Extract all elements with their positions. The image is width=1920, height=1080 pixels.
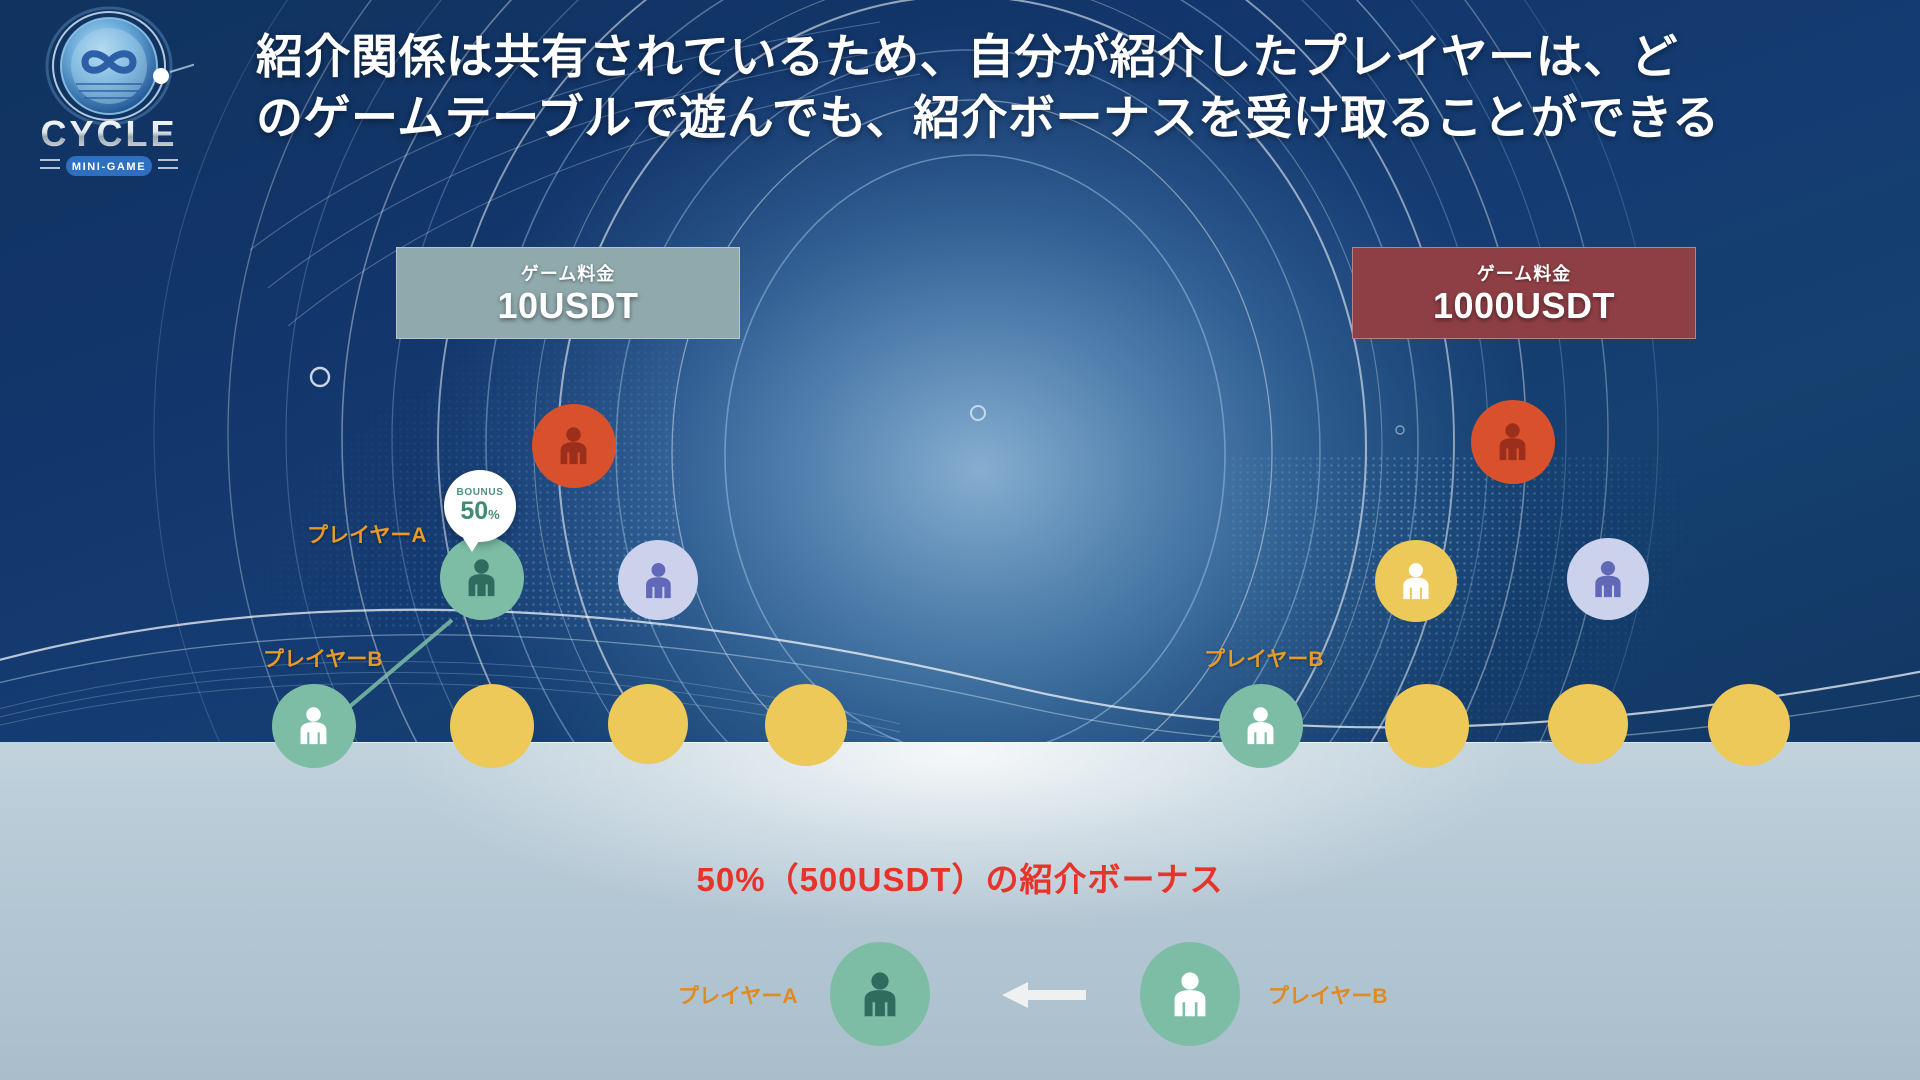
title-line-1: 紹介関係は共有されているため、自分が紹介したプレイヤーは、ど: [256, 26, 1816, 87]
avatar-lavender-left[interactable]: [618, 540, 698, 620]
game-fee-badge-right: ゲーム料金 1000USDT: [1352, 247, 1696, 339]
bonus-bubble: BOUNUS 50%: [444, 470, 516, 542]
avatar-yellow-empty-left-2[interactable]: [608, 684, 688, 764]
game-fee-amount: 1000USDT: [1352, 286, 1696, 326]
avatar-bottom-player-a[interactable]: [830, 942, 930, 1046]
person-icon: [1162, 965, 1218, 1023]
avatar-green-player-b-left[interactable]: [272, 684, 356, 768]
label-bottom-player-a: プレイヤーA: [678, 980, 798, 1010]
avatar-orange-top-left[interactable]: [532, 404, 616, 488]
cycle-logo: CYCLE MINI-GAME: [24, 6, 194, 181]
slide-canvas: CYCLE MINI-GAME 紹介関係は共有されているため、自分が紹介したプレ…: [0, 0, 1920, 1080]
game-fee-badge-left: ゲーム料金 10USDT: [396, 247, 740, 339]
avatar-yellow-empty-left-3[interactable]: [765, 684, 847, 766]
avatar-yellow-empty-right-1[interactable]: [1385, 684, 1469, 768]
avatar-yellow-empty-right-3[interactable]: [1708, 684, 1790, 766]
label-player-a-left: プレイヤーA: [307, 519, 427, 549]
person-icon: [852, 965, 908, 1023]
avatar-bottom-player-b[interactable]: [1140, 942, 1240, 1046]
person-icon: [1393, 558, 1439, 604]
avatar-yellow-person-right[interactable]: [1375, 540, 1457, 622]
person-icon: [458, 554, 505, 601]
logo-wordmark: CYCLE: [40, 113, 177, 154]
avatar-green-player-a-left[interactable]: [440, 536, 524, 620]
avatar-orange-top-right[interactable]: [1471, 400, 1555, 484]
label-player-b-left: プレイヤーB: [263, 643, 383, 673]
bonus-value: 50%: [460, 499, 499, 525]
person-icon: [290, 702, 337, 749]
game-fee-amount: 10USDT: [396, 286, 740, 326]
avatar-yellow-empty-right-2[interactable]: [1548, 684, 1628, 764]
slide-title: 紹介関係は共有されているため、自分が紹介したプレイヤーは、ど のゲームテーブルで…: [256, 26, 1816, 148]
referral-bonus-note: 50%（500USDT）の紹介ボーナス: [0, 853, 1920, 901]
label-player-b-right: プレイヤーB: [1204, 643, 1324, 673]
person-icon: [550, 422, 597, 469]
person-icon: [1237, 702, 1284, 749]
left-arrow-icon: [1002, 982, 1086, 1008]
avatar-yellow-empty-left-1[interactable]: [450, 684, 534, 768]
label-bottom-player-b: プレイヤーB: [1268, 980, 1388, 1010]
logo-tagline: MINI-GAME: [72, 161, 146, 173]
background-ground: [0, 742, 1920, 1080]
person-icon: [1489, 418, 1536, 465]
game-fee-caption: ゲーム料金: [1352, 260, 1696, 286]
person-icon: [636, 558, 681, 603]
person-icon: [1585, 556, 1631, 602]
game-fee-caption: ゲーム料金: [396, 260, 740, 286]
avatar-green-player-b-right[interactable]: [1219, 684, 1303, 768]
avatar-lavender-right[interactable]: [1567, 538, 1649, 620]
title-line-2: のゲームテーブルで遊んでも、紹介ボーナスを受け取ることができる: [256, 87, 1816, 148]
